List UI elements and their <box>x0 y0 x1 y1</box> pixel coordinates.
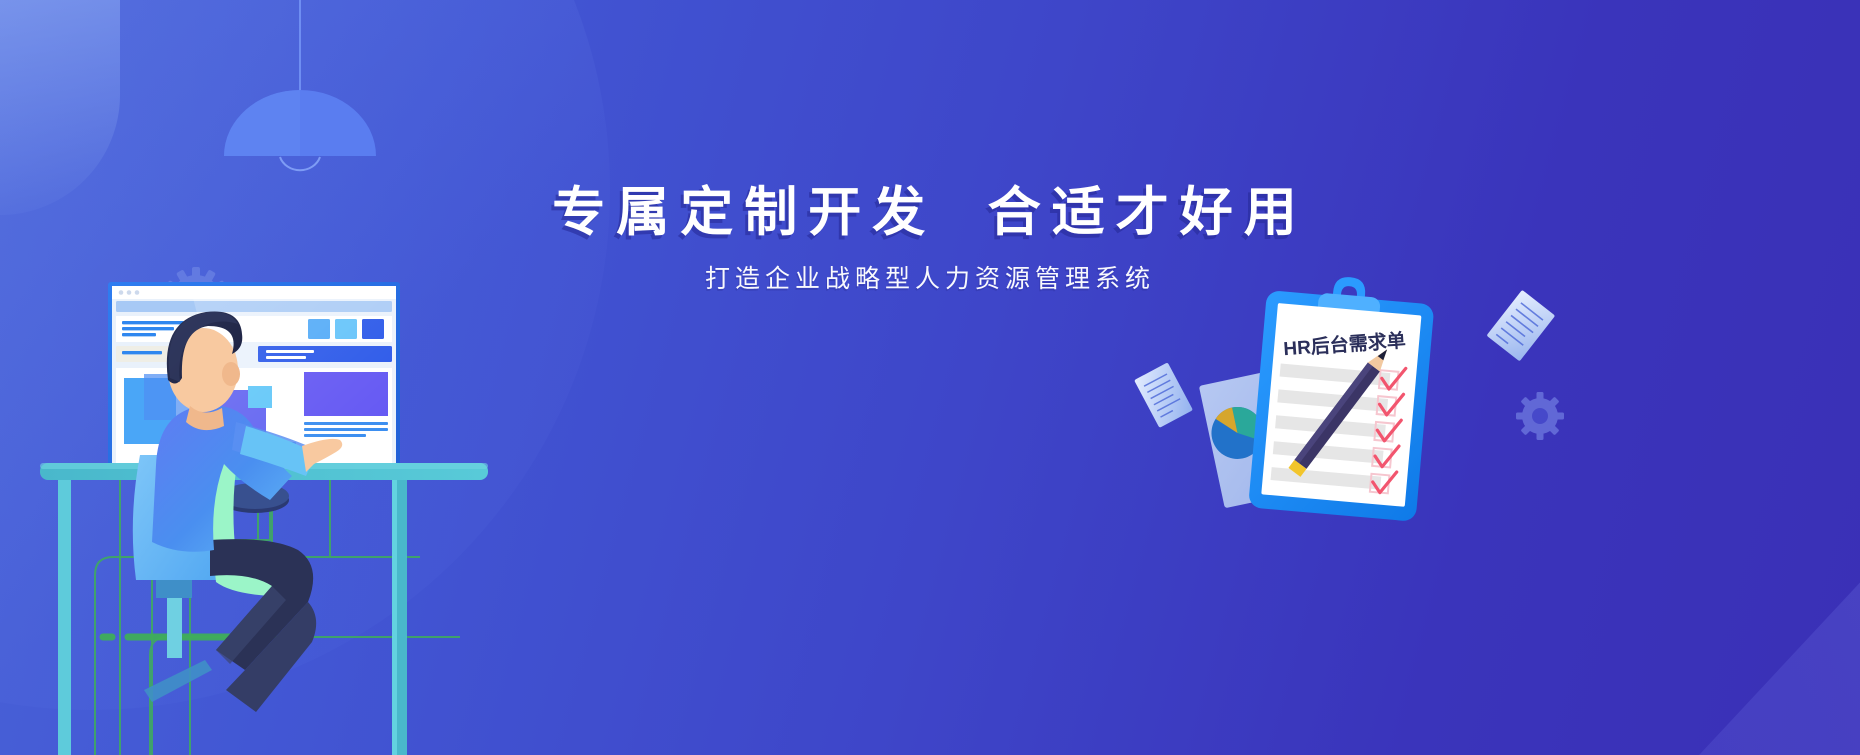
gear-decorative-right <box>1512 388 1568 444</box>
pendant-lamp <box>210 0 390 200</box>
developer-at-desk-illustration <box>40 250 600 755</box>
clipboard: HR后台需求单 <box>1248 270 1436 522</box>
hr-clipboard-illustration: HR后台需求单 <box>1180 270 1520 570</box>
ear <box>222 362 240 386</box>
hero-banner: 专属定制开发 合适才好用 打造企业战略型人力资源管理系统 <box>0 0 1860 755</box>
